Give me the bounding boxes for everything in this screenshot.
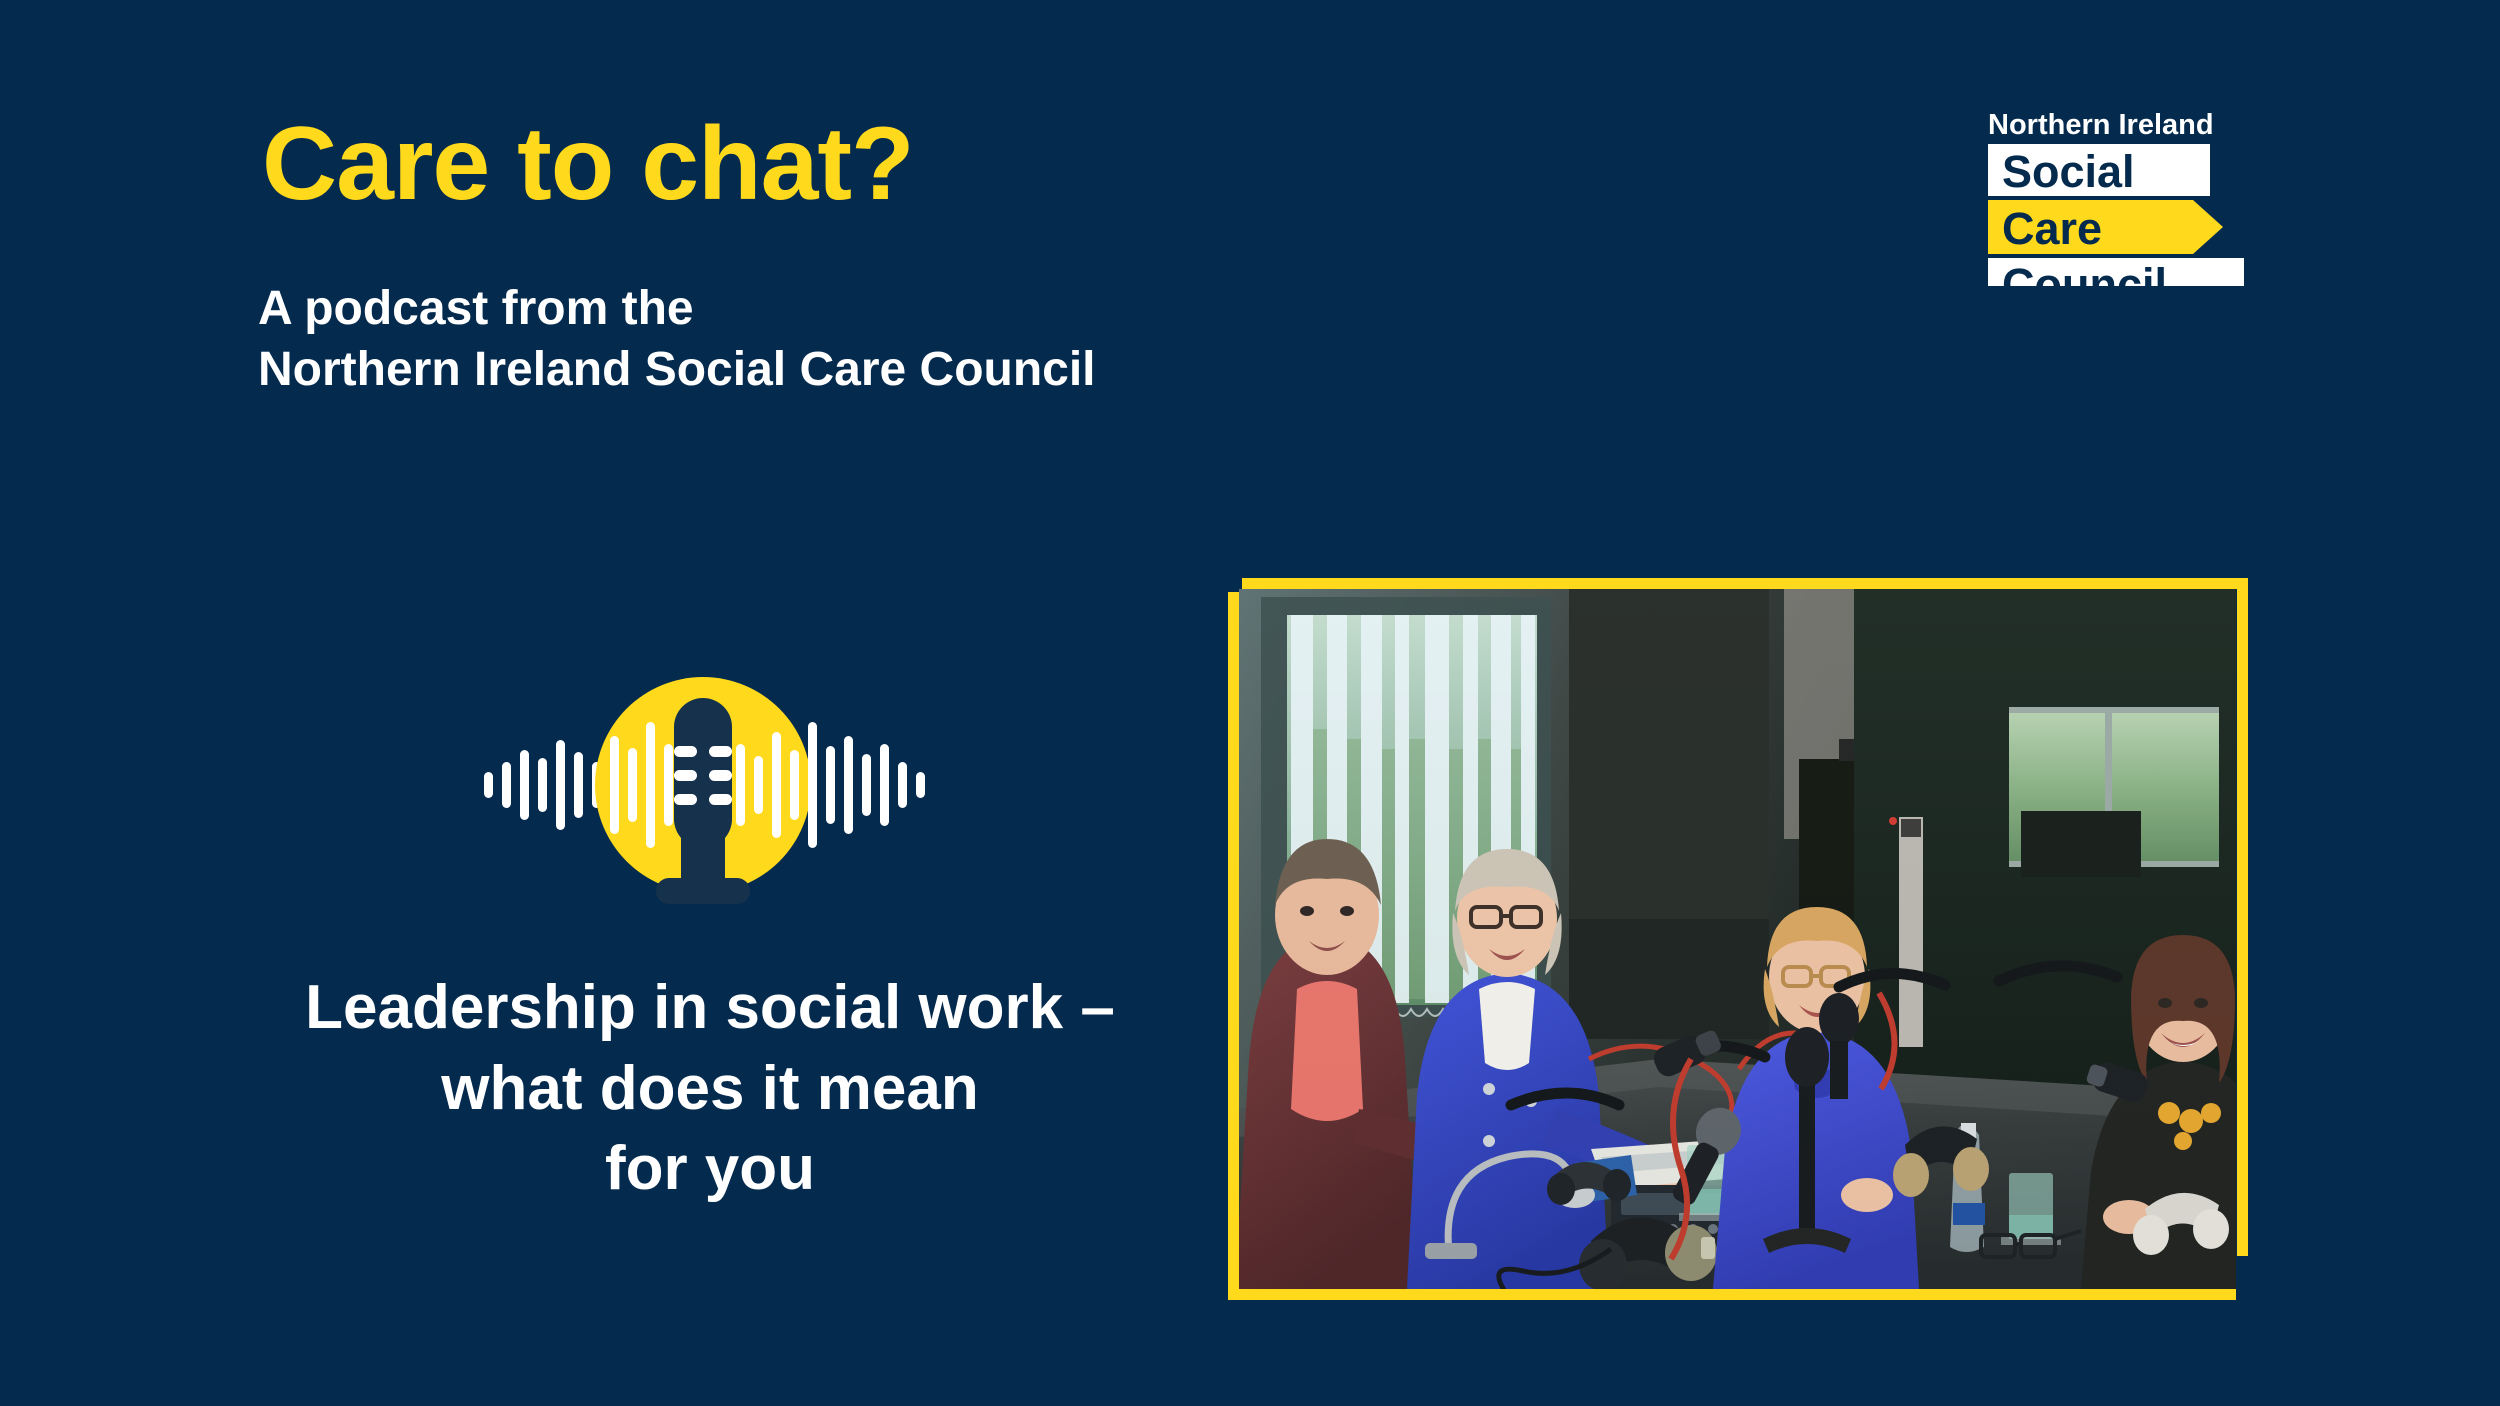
episode-title: Leadership in social work – what does it… bbox=[170, 968, 1250, 1210]
episode-title-line-1: Leadership in social work – bbox=[170, 968, 1250, 1049]
podcast-microphone-badge bbox=[478, 640, 928, 930]
subtitle: A podcast from the Northern Ireland Soci… bbox=[258, 278, 1096, 401]
frame-border-bottom bbox=[1228, 1289, 2236, 1300]
organisation-logo: Northern Ireland Social Care Council bbox=[1988, 108, 2250, 286]
logo-region-label: Northern Ireland bbox=[1988, 109, 2214, 141]
subtitle-line-2: Northern Ireland Social Care Council bbox=[258, 339, 1096, 400]
studio-photograph bbox=[1239, 589, 2236, 1289]
logo-block-council-label: Council bbox=[2002, 259, 2167, 286]
episode-title-line-3: for you bbox=[170, 1129, 1250, 1210]
frame-border-right bbox=[2237, 578, 2248, 1256]
logo-block-social-label: Social bbox=[2002, 146, 2135, 197]
frame-border-left bbox=[1228, 592, 1239, 1300]
logo-graphic: Northern Ireland Social Care Council bbox=[1988, 108, 2250, 286]
episode-title-line-2: what does it mean bbox=[170, 1049, 1250, 1130]
subtitle-line-1: A podcast from the bbox=[258, 278, 1096, 339]
logo-block-care-label: Care bbox=[2002, 203, 2102, 254]
page-title: Care to chat? bbox=[262, 112, 914, 216]
episode-photo-frame bbox=[1228, 578, 2248, 1300]
frame-border-top bbox=[1242, 578, 2248, 589]
